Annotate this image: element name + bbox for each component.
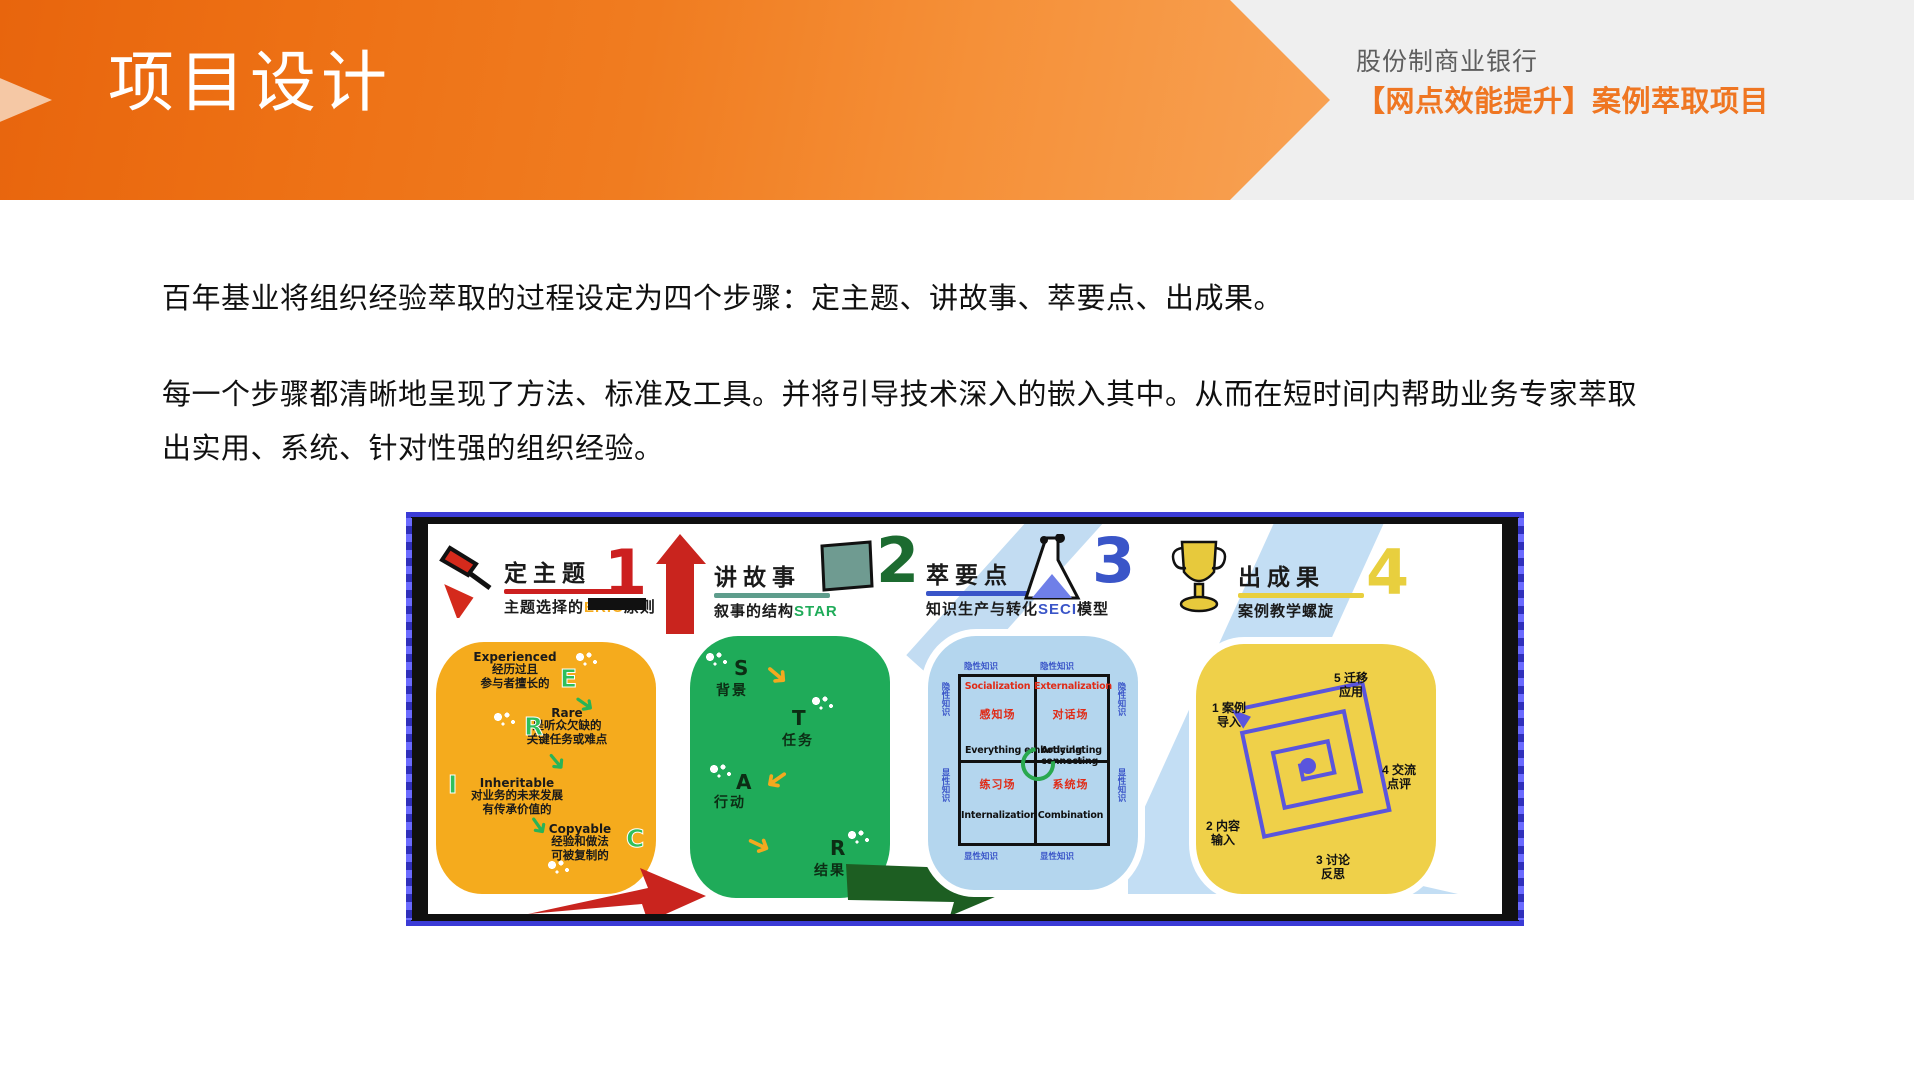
step-rule-2 bbox=[714, 593, 830, 598]
spiral-zh-3a: 讨论 bbox=[1326, 853, 1350, 867]
connector-arrow-1 bbox=[528, 862, 718, 914]
case-teaching-spiral bbox=[1228, 674, 1406, 852]
spiral-label-1: 1 案例 导入 bbox=[1212, 702, 1246, 730]
eric-item-2-zh-2: 有传承价值的 bbox=[442, 804, 592, 818]
trophy-icon bbox=[1168, 538, 1230, 614]
eric-item-3-zh-1: 经验和做法 bbox=[516, 836, 644, 850]
header-right-block: 股份制商业银行 【网点效能提升】案例萃取项目 bbox=[1356, 44, 1896, 124]
seci-cell-2-en: Internalization bbox=[961, 810, 1034, 821]
spiral-zh-5a: 迁移 bbox=[1344, 671, 1368, 685]
eric-letter-r: R bbox=[524, 712, 543, 741]
spiral-zh-4b: 点评 bbox=[1387, 777, 1411, 791]
step-subtitle-1-prefix: 主题选择的 bbox=[504, 599, 584, 616]
eric-item-1-zh-2: 关键任务或难点 bbox=[492, 734, 642, 748]
diagram-canvas: 定主题 主题选择的ERIC原则 1 Experienced 经历过且 参与者擅长… bbox=[428, 524, 1502, 914]
bubbles-decoration bbox=[706, 652, 732, 668]
film-sprockets-left bbox=[406, 518, 412, 920]
flask-icon bbox=[1020, 534, 1084, 606]
eric-item-3-en: Copyable bbox=[516, 822, 644, 836]
bubbles-decoration bbox=[812, 696, 838, 712]
spiral-index-5: 5 bbox=[1334, 671, 1341, 685]
seci-axis-top-right: 隐性知识 bbox=[1040, 660, 1074, 672]
seci-axis-bottom-right: 显性知识 bbox=[1040, 850, 1074, 862]
seci-cell-0-zh: 感知场 bbox=[961, 706, 1034, 722]
eric-item-3: Copyable 经验和做法 可被复制的 bbox=[516, 822, 644, 863]
eric-letter-c: C bbox=[626, 824, 644, 853]
step-title-1: 定主题 bbox=[504, 554, 591, 588]
spiral-zh-3b: 反思 bbox=[1321, 867, 1345, 881]
eric-item-0-en: Experienced bbox=[450, 650, 580, 664]
spiral-zh-4a: 交流 bbox=[1392, 763, 1416, 777]
eric-item-2-en: Inheritable bbox=[442, 776, 592, 790]
seci-cell-3-en: Combination bbox=[1034, 810, 1107, 821]
spiral-zh-2b: 输入 bbox=[1211, 833, 1235, 847]
step-rule-4 bbox=[1238, 593, 1364, 598]
eric-letter-i: I bbox=[448, 770, 457, 799]
seci-matrix: Socialization 感知场 Externalization 对话场 练习… bbox=[958, 674, 1110, 846]
spiral-zh-5b: 应用 bbox=[1339, 685, 1363, 699]
step-number-1-base bbox=[588, 598, 646, 610]
seci-cell-2-zh: 练习场 bbox=[961, 776, 1034, 792]
eric-letter-e: E bbox=[560, 664, 577, 693]
step-number-1: 1 bbox=[604, 542, 647, 604]
step-subtitle-4: 案例教学螺旋 bbox=[1238, 600, 1364, 621]
spiral-zh-1b: 导入 bbox=[1217, 715, 1241, 729]
bubbles-decoration bbox=[710, 764, 736, 780]
step-title-2: 讲故事 bbox=[714, 558, 801, 592]
star-zh-s: 背景 bbox=[716, 680, 748, 700]
body-copy: 百年基业将组织经验萃取的过程设定为四个步骤：定主题、讲故事、萃要点、出成果。 每… bbox=[162, 272, 1662, 476]
film-sprockets-right bbox=[1518, 518, 1524, 920]
seci-cell-1-en: Externalization bbox=[1034, 681, 1107, 692]
step-subtitle-2-prefix: 叙事的结构 bbox=[714, 603, 794, 620]
eric-item-2: Inheritable 对业务的未来发展 有传承价值的 bbox=[442, 776, 592, 817]
spiral-label-5: 5 迁移 应用 bbox=[1334, 672, 1368, 700]
star-zh-r: 结果 bbox=[814, 860, 846, 880]
header-project-name: 【网点效能提升】案例萃取项目 bbox=[1356, 80, 1896, 124]
curved-arrow-up-icon bbox=[656, 534, 710, 634]
spiral-index-3: 3 bbox=[1316, 853, 1323, 867]
star-zh-t: 任务 bbox=[782, 730, 814, 750]
step-number-3: 3 bbox=[1092, 530, 1135, 592]
spiral-index-4: 4 bbox=[1382, 763, 1389, 777]
step-title-4: 出成果 bbox=[1238, 558, 1325, 592]
header-banner: 项目设计 股份制商业银行 【网点效能提升】案例萃取项目 bbox=[0, 0, 1914, 200]
seci-axis-right-top: 隐性知识 bbox=[1116, 682, 1128, 716]
diagram-frame: 定主题 主题选择的ERIC原则 1 Experienced 经历过且 参与者擅长… bbox=[406, 512, 1524, 926]
step-number-4: 4 bbox=[1366, 542, 1409, 604]
triangle-right-icon bbox=[0, 58, 52, 142]
seci-axis-right-bottom: 显性知识 bbox=[1116, 768, 1128, 802]
seci-axis-bottom-left: 显性知识 bbox=[964, 850, 998, 862]
spiral-zh-2a: 内容 bbox=[1216, 819, 1240, 833]
spiral-shape-icon bbox=[1228, 674, 1406, 852]
step-rule-1 bbox=[504, 589, 620, 594]
bubbles-decoration bbox=[494, 712, 520, 728]
step-subtitle-2: 叙事的结构STAR bbox=[714, 600, 838, 621]
paragraph-2: 每一个步骤都清晰地呈现了方法、标准及工具。并将引导技术深入的嵌入其中。从而在短时… bbox=[162, 368, 1637, 476]
step-subtitle-2-accent: STAR bbox=[794, 603, 838, 620]
header-subtitle: 股份制商业银行 bbox=[1356, 44, 1896, 80]
seci-axis-left-bottom: 显性知识 bbox=[940, 768, 952, 802]
seci-axis-top-left: 隐性知识 bbox=[964, 660, 998, 672]
step-title-3: 萃要点 bbox=[926, 556, 1013, 590]
eric-item-2-zh-1: 对业务的未来发展 bbox=[442, 790, 592, 804]
spiral-label-4: 4 交流 点评 bbox=[1382, 764, 1416, 792]
page-title: 项目设计 bbox=[108, 34, 392, 130]
step-header-4: 出成果 案例教学螺旋 bbox=[1238, 558, 1364, 621]
pushpin-icon bbox=[432, 542, 502, 618]
star-zh-a: 行动 bbox=[714, 792, 746, 812]
spiral-label-3: 3 讨论 反思 bbox=[1316, 854, 1350, 882]
bubbles-decoration bbox=[848, 830, 874, 846]
spiral-index-1: 1 bbox=[1212, 701, 1219, 715]
seci-cell-1-zh: 对话场 bbox=[1034, 706, 1107, 722]
spiral-label-2: 2 内容 输入 bbox=[1206, 820, 1240, 848]
star-letter-s: S bbox=[734, 656, 748, 680]
seci-axis-left-top: 隐性知识 bbox=[940, 682, 952, 716]
star-letter-t: T bbox=[792, 706, 806, 730]
seci-cell-0-en: Socialization bbox=[961, 681, 1034, 692]
spiral-zh-1a: 案例 bbox=[1222, 701, 1246, 715]
spiral-index-2: 2 bbox=[1206, 819, 1213, 833]
star-letter-a: A bbox=[736, 770, 751, 794]
paragraph-1: 百年基业将组织经验萃取的过程设定为四个步骤：定主题、讲故事、萃要点、出成果。 bbox=[162, 272, 1442, 326]
star-letter-r: R bbox=[830, 836, 845, 860]
